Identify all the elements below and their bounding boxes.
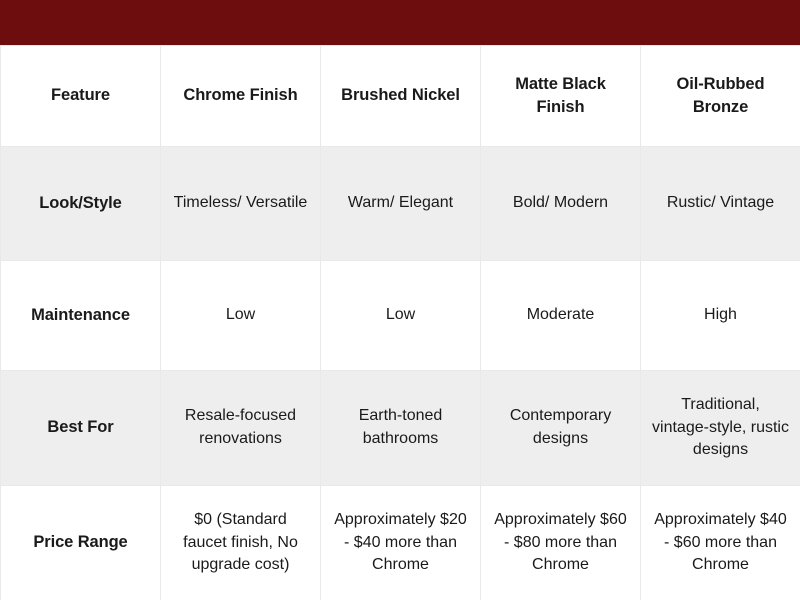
cell-price-range-matte-black: Approximately $60 - $80 more than Chrome [481,486,641,600]
cell-price-range-brushed-nickel: Approximately $20 - $40 more than Chrome [321,486,481,600]
cell-look-style-matte-black: Bold/ Modern [481,147,641,261]
table-row: Look/Style Timeless/ Versatile Warm/ Ele… [1,147,800,261]
cell-best-for-chrome: Resale-focused renovations [161,371,321,486]
page-root: Feature Chrome Finish Brushed Nickel Mat… [0,0,800,600]
table-body: Look/Style Timeless/ Versatile Warm/ Ele… [1,147,800,600]
cell-look-style-brushed-nickel: Warm/ Elegant [321,147,481,261]
cell-price-range-chrome: $0 (Standard faucet finish, No upgrade c… [161,486,321,600]
cell-maintenance-matte-black: Moderate [481,261,641,371]
cell-best-for-matte-black: Contemporary designs [481,371,641,486]
column-header-feature: Feature [1,46,161,147]
cell-look-style-chrome: Timeless/ Versatile [161,147,321,261]
cell-look-style-oil-rubbed-bronze: Rustic/ Vintage [641,147,800,261]
column-header-oil-rubbed-bronze: Oil-Rubbed Bronze [641,46,800,147]
column-header-matte-black-finish: Matte Black Finish [481,46,641,147]
cell-best-for-brushed-nickel: Earth-toned bathrooms [321,371,481,486]
cell-maintenance-chrome: Low [161,261,321,371]
table-header-row: Feature Chrome Finish Brushed Nickel Mat… [1,46,800,147]
cell-maintenance-brushed-nickel: Low [321,261,481,371]
table-row: Maintenance Low Low Moderate High [1,261,800,371]
cell-price-range-oil-rubbed-bronze: Approximately $40 - $60 more than Chrome [641,486,800,600]
top-accent-bar [0,0,800,45]
cell-best-for-oil-rubbed-bronze: Traditional, vintage-style, rustic desig… [641,371,800,486]
row-label-maintenance: Maintenance [1,261,161,371]
table-row: Price Range $0 (Standard faucet finish, … [1,486,800,600]
finish-comparison-table: Feature Chrome Finish Brushed Nickel Mat… [0,45,800,600]
column-header-brushed-nickel: Brushed Nickel [321,46,481,147]
table-row: Best For Resale-focused renovations Eart… [1,371,800,486]
column-header-chrome-finish: Chrome Finish [161,46,321,147]
table-header: Feature Chrome Finish Brushed Nickel Mat… [1,46,800,147]
cell-maintenance-oil-rubbed-bronze: High [641,261,800,371]
row-label-best-for: Best For [1,371,161,486]
row-label-price-range: Price Range [1,486,161,600]
row-label-look-style: Look/Style [1,147,161,261]
comparison-table-container: Feature Chrome Finish Brushed Nickel Mat… [0,45,800,600]
